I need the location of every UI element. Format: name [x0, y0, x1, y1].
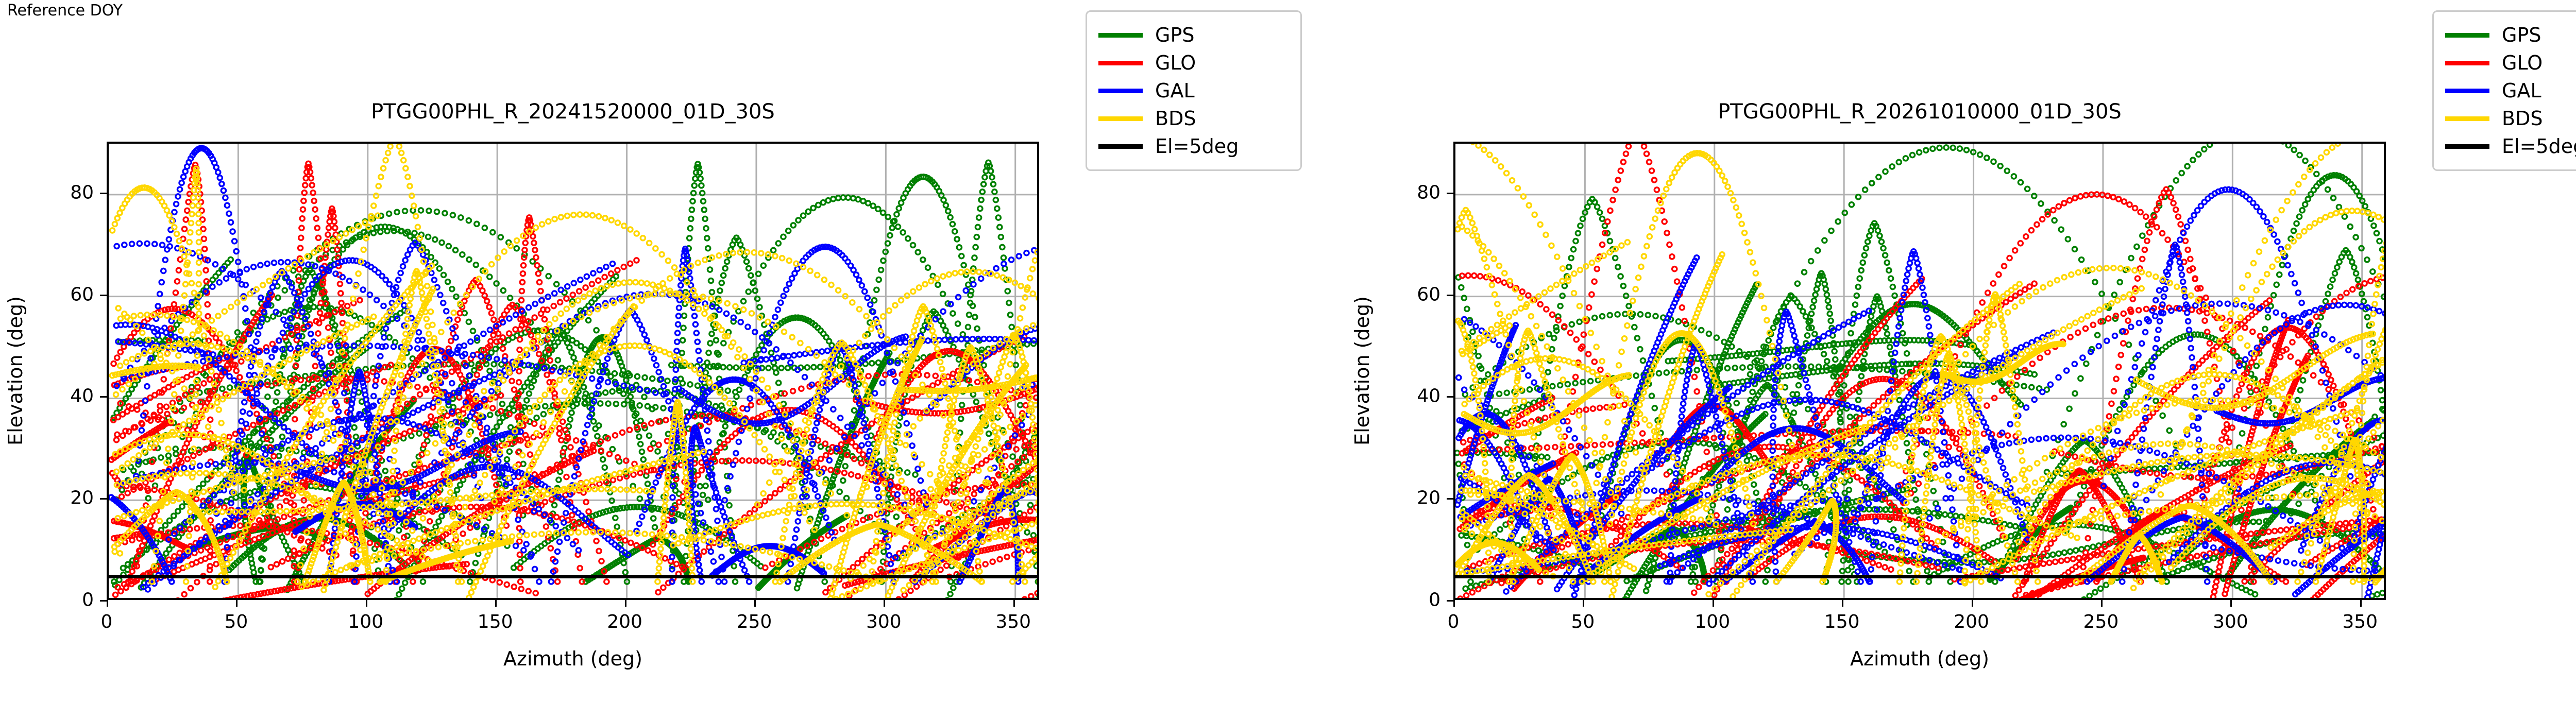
y-tick-label: 0: [1386, 590, 1440, 611]
y-tick-mark: [1447, 193, 1453, 194]
legend-label: El=5deg: [2502, 135, 2576, 158]
y-tick-mark: [1447, 396, 1453, 398]
x-tick-label: 0: [1448, 611, 1460, 632]
x-tick-label: 150: [1824, 611, 1860, 632]
y-tick-label: 40: [1386, 386, 1440, 407]
chart-panel-right: PTGG00PHL_R_20261010000_01D_30S050100150…: [0, 0, 2576, 720]
legend-swatch-gal-icon: [2445, 89, 2489, 93]
x-tick-mark: [2360, 600, 2362, 607]
chart-title-right: PTGG00PHL_R_20261010000_01D_30S: [1453, 100, 2386, 123]
x-tick-label: 300: [2213, 611, 2248, 632]
x-tick-label: 250: [2083, 611, 2119, 632]
legend-item-bds[interactable]: BDS: [2445, 105, 2576, 132]
legend-item-el-5deg[interactable]: El=5deg: [2445, 132, 2576, 160]
x-tick-mark: [1583, 600, 1584, 607]
plot-canvas-right: [1455, 144, 2386, 600]
legend-swatch-gps-icon: [2445, 33, 2489, 38]
legend-swatch-bds-icon: [2445, 116, 2489, 121]
x-tick-mark: [1972, 600, 1973, 607]
y-tick-label: 60: [1386, 284, 1440, 305]
x-axis-label-right: Azimuth (deg): [1453, 647, 2386, 670]
legend-item-gps[interactable]: GPS: [2445, 21, 2576, 49]
x-tick-label: 200: [1954, 611, 1989, 632]
y-tick-mark: [1447, 295, 1453, 296]
x-tick-label: 350: [2342, 611, 2378, 632]
x-tick-mark: [1842, 600, 1843, 607]
legend-right: GPSGLOGALBDSEl=5deg: [2432, 10, 2576, 171]
x-tick-label: 50: [1571, 611, 1595, 632]
y-tick-mark: [1447, 600, 1453, 602]
y-axis-label-right: Elevation (deg): [1351, 296, 1374, 445]
y-tick-label: 20: [1386, 488, 1440, 509]
legend-label: BDS: [2502, 107, 2543, 130]
x-tick-label: 100: [1694, 611, 1730, 632]
y-tick-mark: [1447, 498, 1453, 500]
legend-item-gal[interactable]: GAL: [2445, 77, 2576, 105]
x-tick-mark: [2230, 600, 2232, 607]
legend-swatch-el-5deg-icon: [2445, 144, 2489, 149]
figure-canvas: Reference DOY PTGG00PHL_R_20241520000_01…: [0, 0, 2576, 720]
legend-item-glo[interactable]: GLO: [2445, 49, 2576, 77]
legend-label: GAL: [2502, 79, 2541, 102]
legend-swatch-glo-icon: [2445, 61, 2489, 65]
x-tick-mark: [1453, 600, 1455, 607]
y-tick-label: 80: [1386, 182, 1440, 203]
legend-label: GLO: [2502, 52, 2543, 74]
legend-label: GPS: [2502, 24, 2541, 46]
x-tick-mark: [2101, 600, 2103, 607]
x-tick-mark: [1713, 600, 1714, 607]
plot-area-right: [1453, 142, 2386, 600]
